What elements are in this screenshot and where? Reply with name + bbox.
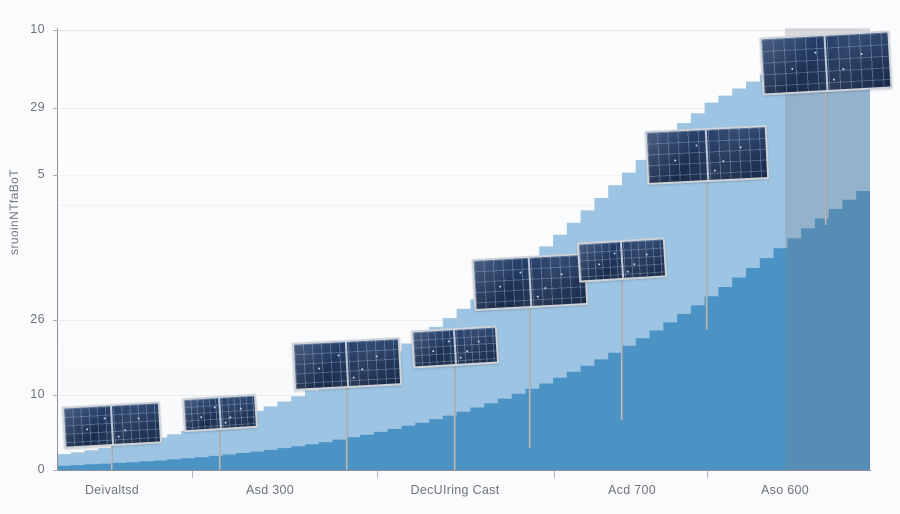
panel-cell-surface bbox=[64, 403, 160, 446]
panel-glint bbox=[224, 422, 226, 424]
panel-glint bbox=[432, 350, 434, 352]
x-axis-line bbox=[57, 470, 871, 471]
y-axis-line bbox=[57, 28, 58, 471]
panel-glint bbox=[791, 68, 793, 70]
panel-cell-surface bbox=[294, 339, 400, 388]
y-tick-label: 29 bbox=[0, 101, 45, 114]
y-tick-label: 10 bbox=[0, 23, 45, 36]
solar-panel-8 bbox=[761, 34, 891, 225]
solar-panel-1 bbox=[63, 404, 161, 470]
panel-glint bbox=[86, 428, 88, 430]
panel-mounting-pole bbox=[346, 378, 348, 470]
x-tick-label: Asd 300 bbox=[246, 483, 294, 497]
y-tick-label: 10 bbox=[0, 388, 45, 401]
y-tick-label: 0 bbox=[0, 463, 45, 476]
panel-cell-surface bbox=[184, 396, 256, 430]
panel-glint bbox=[627, 270, 629, 272]
x-tick-mark bbox=[554, 471, 555, 478]
y-tick-mark bbox=[53, 30, 58, 31]
panel-mounting-pole bbox=[825, 80, 827, 225]
solar-panel-board bbox=[645, 125, 769, 185]
panel-glint bbox=[814, 52, 816, 54]
solar-panel-5 bbox=[473, 256, 587, 448]
x-tick-mark bbox=[377, 471, 378, 478]
panel-glint bbox=[447, 340, 449, 342]
panel-glint bbox=[466, 350, 468, 352]
panel-cell-surface bbox=[647, 127, 767, 183]
x-tick-mark bbox=[707, 471, 708, 478]
panel-glint bbox=[740, 146, 742, 148]
panel-glint bbox=[714, 170, 716, 172]
solar-panel-3 bbox=[293, 340, 401, 470]
solar-panel-board bbox=[759, 30, 892, 95]
y-axis-title: sruoinNTfaBoT bbox=[7, 132, 21, 292]
y-tick-mark bbox=[53, 175, 58, 176]
solar-panel-2 bbox=[183, 396, 257, 470]
panel-glint bbox=[674, 159, 676, 161]
panel-glint bbox=[560, 273, 562, 275]
x-tick-label: Acd 700 bbox=[608, 483, 656, 497]
panel-glint bbox=[229, 416, 231, 418]
panel-mounting-pole bbox=[454, 358, 456, 470]
y-tick-mark bbox=[53, 320, 58, 321]
y-tick-mark bbox=[53, 395, 58, 396]
panel-mounting-pole bbox=[621, 272, 623, 420]
panel-mounting-pole bbox=[706, 171, 708, 330]
x-tick-mark bbox=[192, 471, 193, 478]
solar-panel-7 bbox=[646, 128, 768, 330]
x-tick-label: Aso 600 bbox=[761, 483, 809, 497]
panel-glint bbox=[103, 417, 105, 419]
solar-panel-board bbox=[292, 337, 402, 391]
solar-panel-board bbox=[182, 394, 258, 433]
panel-mounting-pole bbox=[219, 423, 221, 470]
panel-cell-surface bbox=[474, 255, 586, 309]
y-tick-label: 26 bbox=[0, 313, 45, 326]
panel-mounting-pole bbox=[529, 298, 531, 448]
panel-glint bbox=[124, 429, 126, 431]
solar-panel-board bbox=[472, 253, 589, 311]
solar-growth-area-chart: 0102652910 DeivaltsdAsd 300DecUIring Cas… bbox=[0, 0, 900, 514]
y-tick-mark bbox=[53, 108, 58, 109]
x-tick-label: Deivaltsd bbox=[85, 483, 139, 497]
panel-glint bbox=[239, 407, 241, 409]
x-tick-label: DecUIring Cast bbox=[411, 483, 500, 497]
y-tick-mark bbox=[53, 470, 58, 471]
panel-cell-surface bbox=[762, 33, 891, 94]
solar-panel-board bbox=[62, 401, 162, 448]
